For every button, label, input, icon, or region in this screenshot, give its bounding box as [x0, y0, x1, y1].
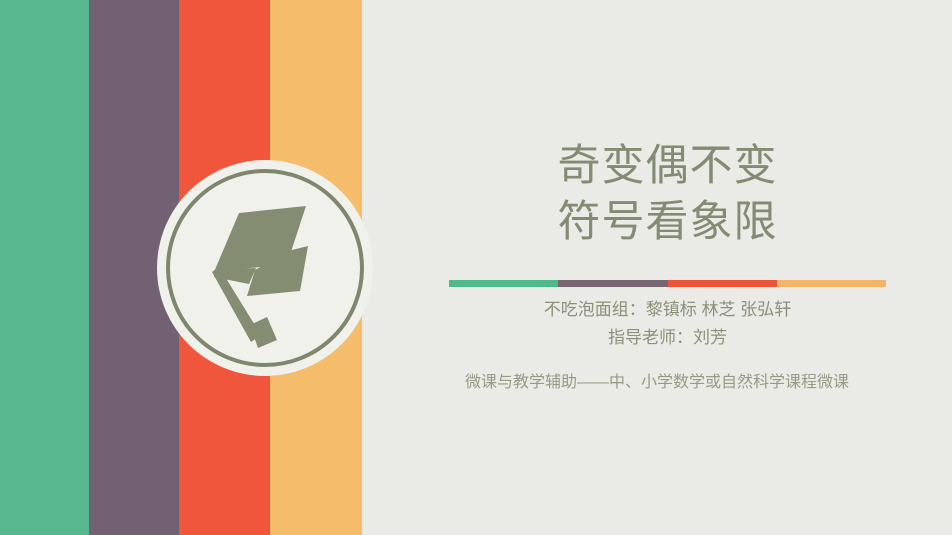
divider-segment-green — [449, 280, 558, 287]
page-title: 奇变偶不变 符号看象限 — [449, 138, 886, 250]
content-column: 奇变偶不变 符号看象限 不吃泡面组：黎镇标 林芝 张弘轩 指导老师：刘芳 微课与… — [449, 0, 886, 535]
graduation-cap-icon — [157, 160, 373, 376]
divider-segment-orange — [777, 280, 886, 287]
divider-segment-red — [668, 280, 777, 287]
color-divider — [449, 280, 886, 287]
title-line-2: 符号看象限 — [449, 194, 886, 250]
supervising-teacher: 指导老师：刘芳 — [449, 324, 886, 352]
title-line-1: 奇变偶不变 — [449, 138, 886, 194]
course-description: 微课与教学辅助——中、小学数学或自然科学课程微课 — [465, 370, 865, 395]
color-bar-green — [0, 0, 89, 535]
emblem — [157, 160, 373, 376]
title-slide: 奇变偶不变 符号看象限 不吃泡面组：黎镇标 林芝 张弘轩 指导老师：刘芳 微课与… — [0, 0, 952, 535]
credits-block: 不吃泡面组：黎镇标 林芝 张弘轩 指导老师：刘芳 — [449, 296, 886, 352]
divider-segment-purple — [558, 280, 667, 287]
team-members: 不吃泡面组：黎镇标 林芝 张弘轩 — [449, 296, 886, 324]
